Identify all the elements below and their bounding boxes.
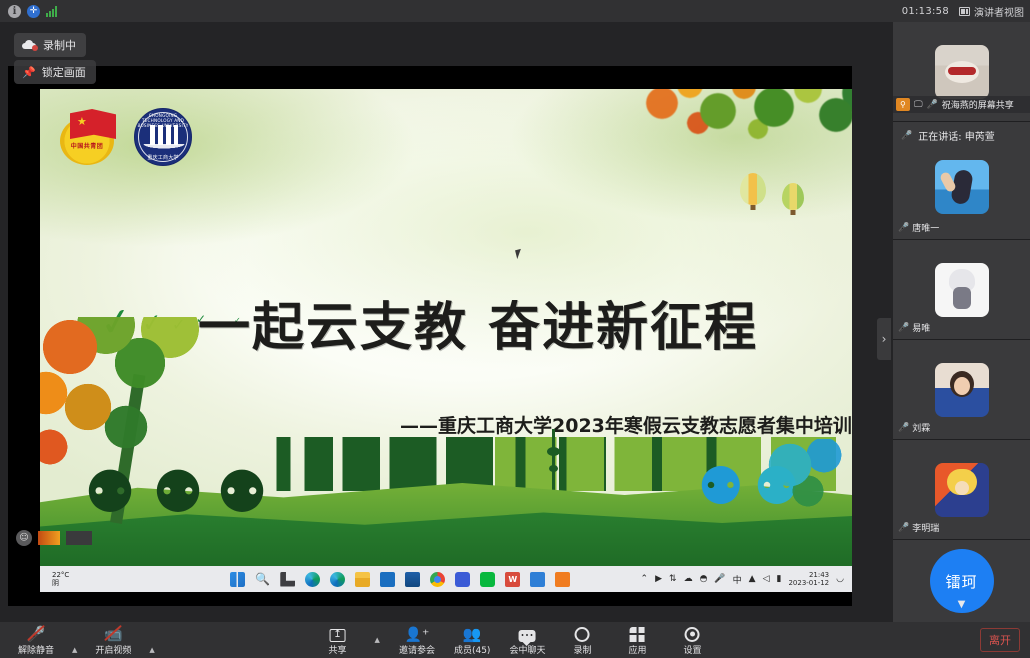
recording-status-chip[interactable]: 录制中 [14, 33, 86, 57]
participant-label-row: ⚲ 🖵 🎤 祝海燕的屏幕共享 [893, 96, 1030, 113]
shared-screen-stage[interactable]: ★ 中国共青团 CHONGQING TECHNOLOGY AND BUSINES… [0, 22, 893, 622]
invite-label: 邀请参会 [399, 643, 435, 656]
file-explorer-icon[interactable] [355, 572, 370, 587]
wifi-icon[interactable]: ▲ [749, 574, 756, 584]
speaking-status-row: 🎤 正在讲话: 申芮萱 [893, 128, 1030, 143]
chevron-right-icon: › [882, 332, 887, 346]
network-signal-icon[interactable] [46, 6, 57, 17]
share-label: 共享 [329, 643, 347, 656]
university-emblem-icon: CHONGQING TECHNOLOGY AND BUSINESS UNIVER… [134, 108, 192, 166]
wps-office-icon[interactable]: W [505, 572, 520, 587]
participant-name: 李明瑞 [912, 521, 939, 534]
record-icon [575, 627, 590, 642]
chat-icon [519, 630, 536, 642]
participant-label-row: 🎤 易唯 [893, 320, 935, 335]
slide-logos: ★ 中国共青团 CHONGQING TECHNOLOGY AND BUSINES… [58, 107, 192, 167]
battery-icon[interactable]: ▮ [777, 574, 782, 584]
communist-youth-league-emblem-icon: ★ 中国共青团 [58, 107, 120, 167]
record-button[interactable]: 录制 [564, 625, 600, 656]
music-app-icon[interactable] [455, 572, 470, 587]
avatar [935, 363, 989, 417]
chevron-down-icon[interactable]: ▼ [958, 599, 966, 610]
participant-label-row: 🎤 李明瑞 [893, 520, 944, 535]
lock-view-label: 锁定画面 [42, 64, 86, 80]
unmute-button[interactable]: 🎤 解除静音 [18, 625, 54, 656]
slide-bottom-artwork: ⚉ ⚉ ⚉ ⚉ ⚉ [40, 317, 852, 567]
chrome-icon[interactable] [430, 572, 445, 587]
blue-app-icon[interactable] [530, 572, 545, 587]
microphone-icon[interactable]: 🎤 [714, 574, 725, 584]
apps-label: 应用 [628, 643, 646, 656]
gear-icon [685, 627, 700, 642]
university-emblem-bottom-text: 重庆工商大学 [135, 154, 191, 161]
participant-name: 易唯 [912, 321, 930, 334]
leave-area: 离开 [980, 628, 1030, 652]
ime-icon[interactable]: 中 [733, 573, 742, 586]
media-icon[interactable]: ▶ [655, 574, 662, 584]
taskbar-clock[interactable]: 21:43 2023-01-12 [788, 571, 829, 587]
media-progress-bar[interactable] [66, 531, 92, 545]
windows-taskbar[interactable]: 22°C 阴 🔍 W [40, 566, 852, 592]
microphone-muted-icon: 🎤 [898, 223, 909, 233]
av-controls: 🎤 解除静音 ▲ 📹 开启视频 ▲ [0, 625, 155, 656]
microphone-muted-icon: 🎤 [901, 131, 912, 141]
participants-button[interactable]: 👥 成员(45) [454, 625, 490, 656]
microphone-muted-icon: 🎤 [898, 523, 909, 533]
video-options-chevron-icon[interactable]: ▲ [149, 646, 154, 654]
action-center-icon[interactable]: ◡ [836, 574, 844, 584]
weather-widget[interactable]: 22°C 阴 [40, 571, 160, 587]
wechat-icon[interactable] [480, 572, 495, 587]
participant-name: 唐唯一 [912, 221, 939, 234]
top-bar-left-icons: i ✛ [0, 5, 57, 18]
main-actions: 共享 ▲ 👤⁺ 邀请参会 👥 成员(45) 会中聊天 录制 应用 [320, 625, 711, 656]
notification-dot-icon[interactable]: ◓ [700, 574, 708, 584]
hot-air-balloon-icon [782, 183, 804, 210]
microsoft-store-icon[interactable] [380, 572, 395, 587]
weather-temperature: 22°C [52, 571, 160, 579]
screen-share-icon [330, 629, 346, 642]
self-video-tile[interactable]: 镭珂 ▼ [893, 540, 1030, 622]
cortana-icon[interactable] [305, 572, 320, 587]
start-video-button[interactable]: 📹 开启视频 [95, 625, 131, 656]
screen-share-icon: 🖵 [914, 100, 923, 110]
pin-badge-icon[interactable]: ⚲ [896, 98, 910, 111]
leave-button[interactable]: 离开 [980, 628, 1020, 652]
avatar [935, 45, 989, 99]
settings-label: 设置 [683, 643, 701, 656]
edge-icon[interactable] [330, 572, 345, 587]
participant-name: 刘霖 [912, 421, 930, 434]
orange-app-icon[interactable] [555, 572, 570, 587]
network-transfer-icon[interactable]: ⇅ [669, 574, 677, 584]
meeting-top-bar: i ✛ 01:13:58 演讲者视图 [0, 0, 1030, 22]
clock-time: 21:43 [809, 571, 829, 579]
media-overlay-controls[interactable]: ☺ [16, 530, 92, 546]
participant-tile[interactable]: 🎤 刘霖 [893, 340, 1030, 440]
info-icon[interactable]: i [8, 5, 21, 18]
add-person-icon: 👤⁺ [405, 628, 430, 642]
speaking-label: 正在讲话: 申芮萱 [918, 128, 995, 143]
audio-options-chevron-icon[interactable]: ▲ [72, 646, 77, 654]
taskbar-system-tray: ⌃ ▶ ⇅ ☁ ◓ 🎤 中 ▲ ◁ ▮ 21:43 2023-01-12 ◡ [641, 571, 852, 587]
weather-description: 阴 [52, 579, 160, 587]
microphone-muted-icon: 🎤 [898, 323, 909, 333]
avatar [935, 160, 989, 214]
participant-name: 祝海燕的屏幕共享 [942, 98, 1014, 111]
microphone-muted-icon: 🎤 [898, 423, 909, 433]
apps-button[interactable]: 应用 [619, 625, 655, 656]
start-video-label: 开启视频 [95, 643, 131, 656]
media-play-icon[interactable]: ☺ [16, 530, 32, 546]
panel-collapse-handle[interactable]: › [877, 318, 891, 360]
participant-tile[interactable]: 🎤 易唯 [893, 240, 1030, 340]
share-screen-button[interactable]: 共享 [320, 625, 356, 656]
meeting-control-bar: 🎤 解除静音 ▲ 📹 开启视频 ▲ 共享 ▲ 👤⁺ 邀请参会 👥 成员(45 [0, 622, 1030, 658]
encryption-shield-icon[interactable]: ✛ [27, 5, 40, 18]
onedrive-icon[interactable]: ☁ [684, 574, 693, 584]
hot-air-balloon-icon [740, 173, 766, 205]
shared-desktop[interactable]: ★ 中国共青团 CHONGQING TECHNOLOGY AND BUSINES… [8, 66, 852, 606]
cyl-emblem-text: 中国共青团 [58, 141, 116, 150]
presentation-slide: ★ 中国共青团 CHONGQING TECHNOLOGY AND BUSINES… [40, 89, 852, 567]
hidden-icons-chevron[interactable]: ⌃ [641, 574, 649, 584]
taskbar-app-icons: 🔍 W [160, 572, 641, 587]
share-options-chevron-icon[interactable]: ▲ [375, 636, 380, 644]
participant-label-row: 🎤 唐唯一 [893, 220, 944, 235]
avatar [935, 463, 989, 517]
microphone-icon: 🎤 [927, 100, 938, 110]
autumn-foliage-decoration [632, 89, 852, 187]
settings-button[interactable]: 设置 [674, 625, 710, 656]
unmute-label: 解除静音 [18, 643, 54, 656]
media-thumbnail[interactable] [38, 531, 60, 545]
pin-icon: 📌 [22, 67, 36, 78]
speaker-view-icon [959, 7, 970, 16]
clock-date: 2023-01-12 [788, 579, 829, 587]
mail-icon[interactable] [405, 572, 420, 587]
participants-label: 成员(45) [454, 643, 490, 656]
search-icon[interactable]: 🔍 [255, 572, 270, 587]
chat-button[interactable]: 会中聊天 [509, 625, 545, 656]
invite-button[interactable]: 👤⁺ 邀请参会 [399, 625, 435, 656]
participants-panel[interactable]: ⚲ 🖵 🎤 祝海燕的屏幕共享 🎤 正在讲话: 申芮萱 🎤 唐唯一 🎤 易唯 [893, 22, 1030, 622]
apps-grid-icon [630, 627, 645, 642]
avatar [935, 263, 989, 317]
participants-icon: 👥 [463, 627, 482, 642]
view-mode-label: 演讲者视图 [974, 4, 1024, 19]
participant-tile[interactable]: 🎤 李明瑞 [893, 440, 1030, 540]
lock-view-chip[interactable]: 📌 锁定画面 [14, 60, 96, 84]
record-label: 录制 [573, 643, 591, 656]
meeting-window: i ✛ 01:13:58 演讲者视图 录制中 📌 锁定画面 [0, 0, 1030, 658]
participant-tile-speaking[interactable]: 🎤 正在讲话: 申芮萱 🎤 唐唯一 [893, 122, 1030, 240]
participant-tile-screen-share[interactable]: ⚲ 🖵 🎤 祝海燕的屏幕共享 [893, 22, 1030, 122]
meeting-timer: 01:13:58 [902, 6, 949, 17]
top-bar-right: 01:13:58 演讲者视图 [902, 4, 1030, 19]
windows-start-icon[interactable] [230, 572, 245, 587]
task-view-icon[interactable] [280, 572, 295, 587]
cloud-record-icon [22, 40, 37, 50]
view-mode-button[interactable]: 演讲者视图 [959, 4, 1024, 19]
volume-icon[interactable]: ◁ [763, 574, 770, 584]
recording-label: 录制中 [43, 37, 76, 53]
participant-label-row: 🎤 刘霖 [893, 420, 935, 435]
